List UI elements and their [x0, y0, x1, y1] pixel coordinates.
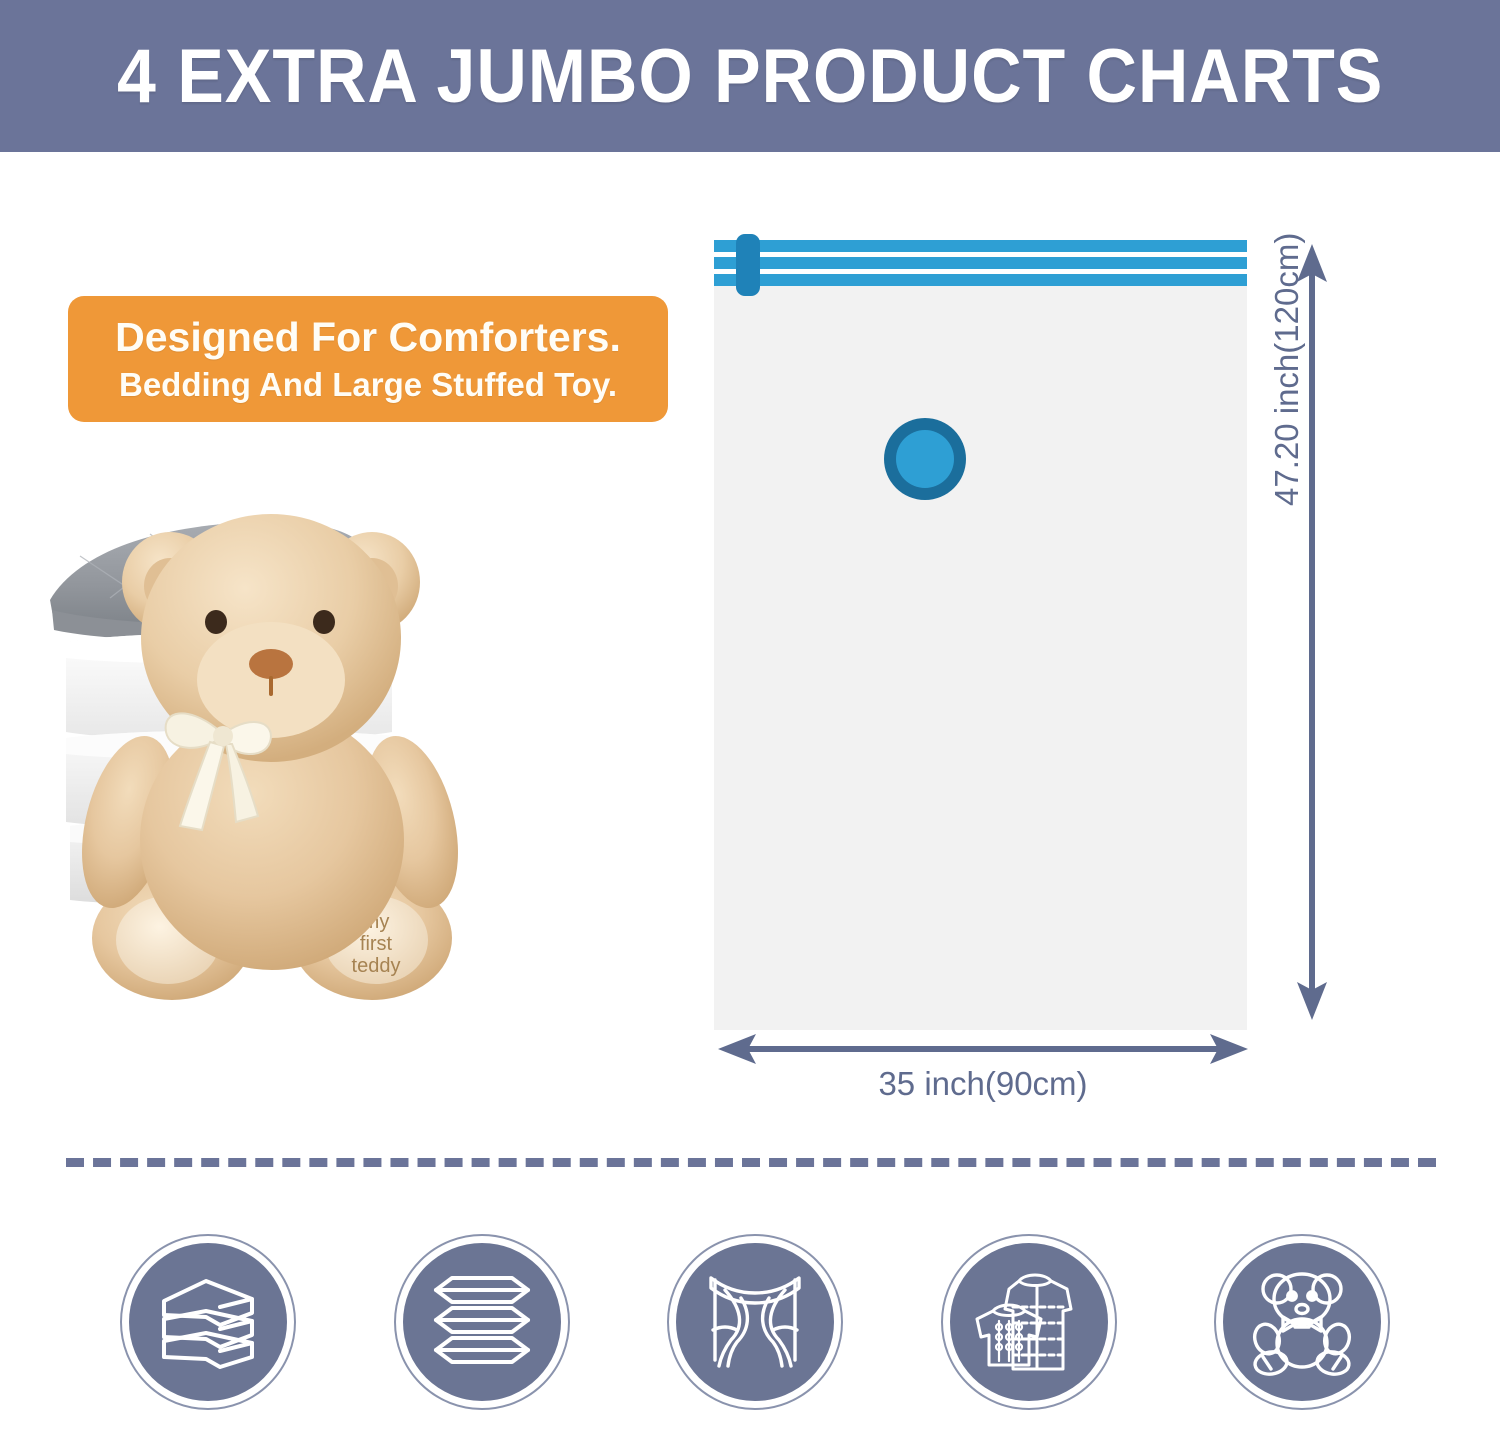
- stacked-pillows-icon: [403, 1243, 561, 1401]
- teddy-bear-icon: [1223, 1243, 1381, 1401]
- sweater-and-down-jacket-icon: [950, 1243, 1108, 1401]
- teddy-bear-glyph: [1243, 1265, 1361, 1379]
- designed-for-badge: Designed For Comforters. Bedding And Lar…: [68, 296, 668, 422]
- teddy-foot-text-line3: teddy: [352, 955, 401, 977]
- teddy-foot-text-line2: first: [360, 933, 393, 955]
- feature-item-clothing[interactable]: [941, 1234, 1117, 1410]
- page-title: 4 EXTRA JUMBO PRODUCT CHARTS: [117, 33, 1383, 120]
- badge-primary-text: Designed For Comforters.: [115, 315, 621, 361]
- product-photo: my first teddy: [20, 470, 700, 1040]
- zipper-band-1: [714, 240, 1247, 252]
- curtains-icon: [676, 1243, 834, 1401]
- feature-icon-row: [120, 1222, 1390, 1422]
- feature-item-curtains[interactable]: [667, 1234, 843, 1410]
- zipper-band-2: [714, 257, 1247, 269]
- width-dimension-label: 35 inch(90cm): [716, 1065, 1250, 1103]
- feature-item-pillows[interactable]: [394, 1234, 570, 1410]
- stacked-pillows-glyph: [424, 1266, 540, 1378]
- bag-body: [714, 284, 1247, 1030]
- feature-item-folded-blankets[interactable]: [120, 1234, 296, 1410]
- clothing-glyph: [967, 1263, 1091, 1381]
- feature-item-stuffed-toys[interactable]: [1214, 1234, 1390, 1410]
- curtains-glyph: [697, 1264, 813, 1380]
- folded-blankets-glyph: [148, 1267, 268, 1377]
- zipper-band-3: [714, 274, 1247, 286]
- badge-secondary-text: Bedding And Large Stuffed Toy.: [119, 365, 617, 405]
- section-divider: [66, 1158, 1436, 1167]
- width-dimension-arrow: [716, 1030, 1250, 1068]
- height-dimension-label: 47.20 inch(120cm): [1268, 166, 1306, 506]
- header-banner: 4 EXTRA JUMBO PRODUCT CHARTS: [0, 0, 1500, 152]
- folded-blankets-icon: [129, 1243, 287, 1401]
- width-arrow-graphic: [716, 1030, 1250, 1068]
- product-photo-illustration: my first teddy: [20, 470, 700, 1040]
- vacuum-storage-bag: [714, 240, 1247, 1030]
- teddy-bear-photo: my first teddy: [66, 514, 474, 1000]
- air-valve-icon[interactable]: [884, 418, 966, 500]
- air-valve-inner: [896, 430, 954, 488]
- zipper-slider-icon[interactable]: [736, 234, 760, 296]
